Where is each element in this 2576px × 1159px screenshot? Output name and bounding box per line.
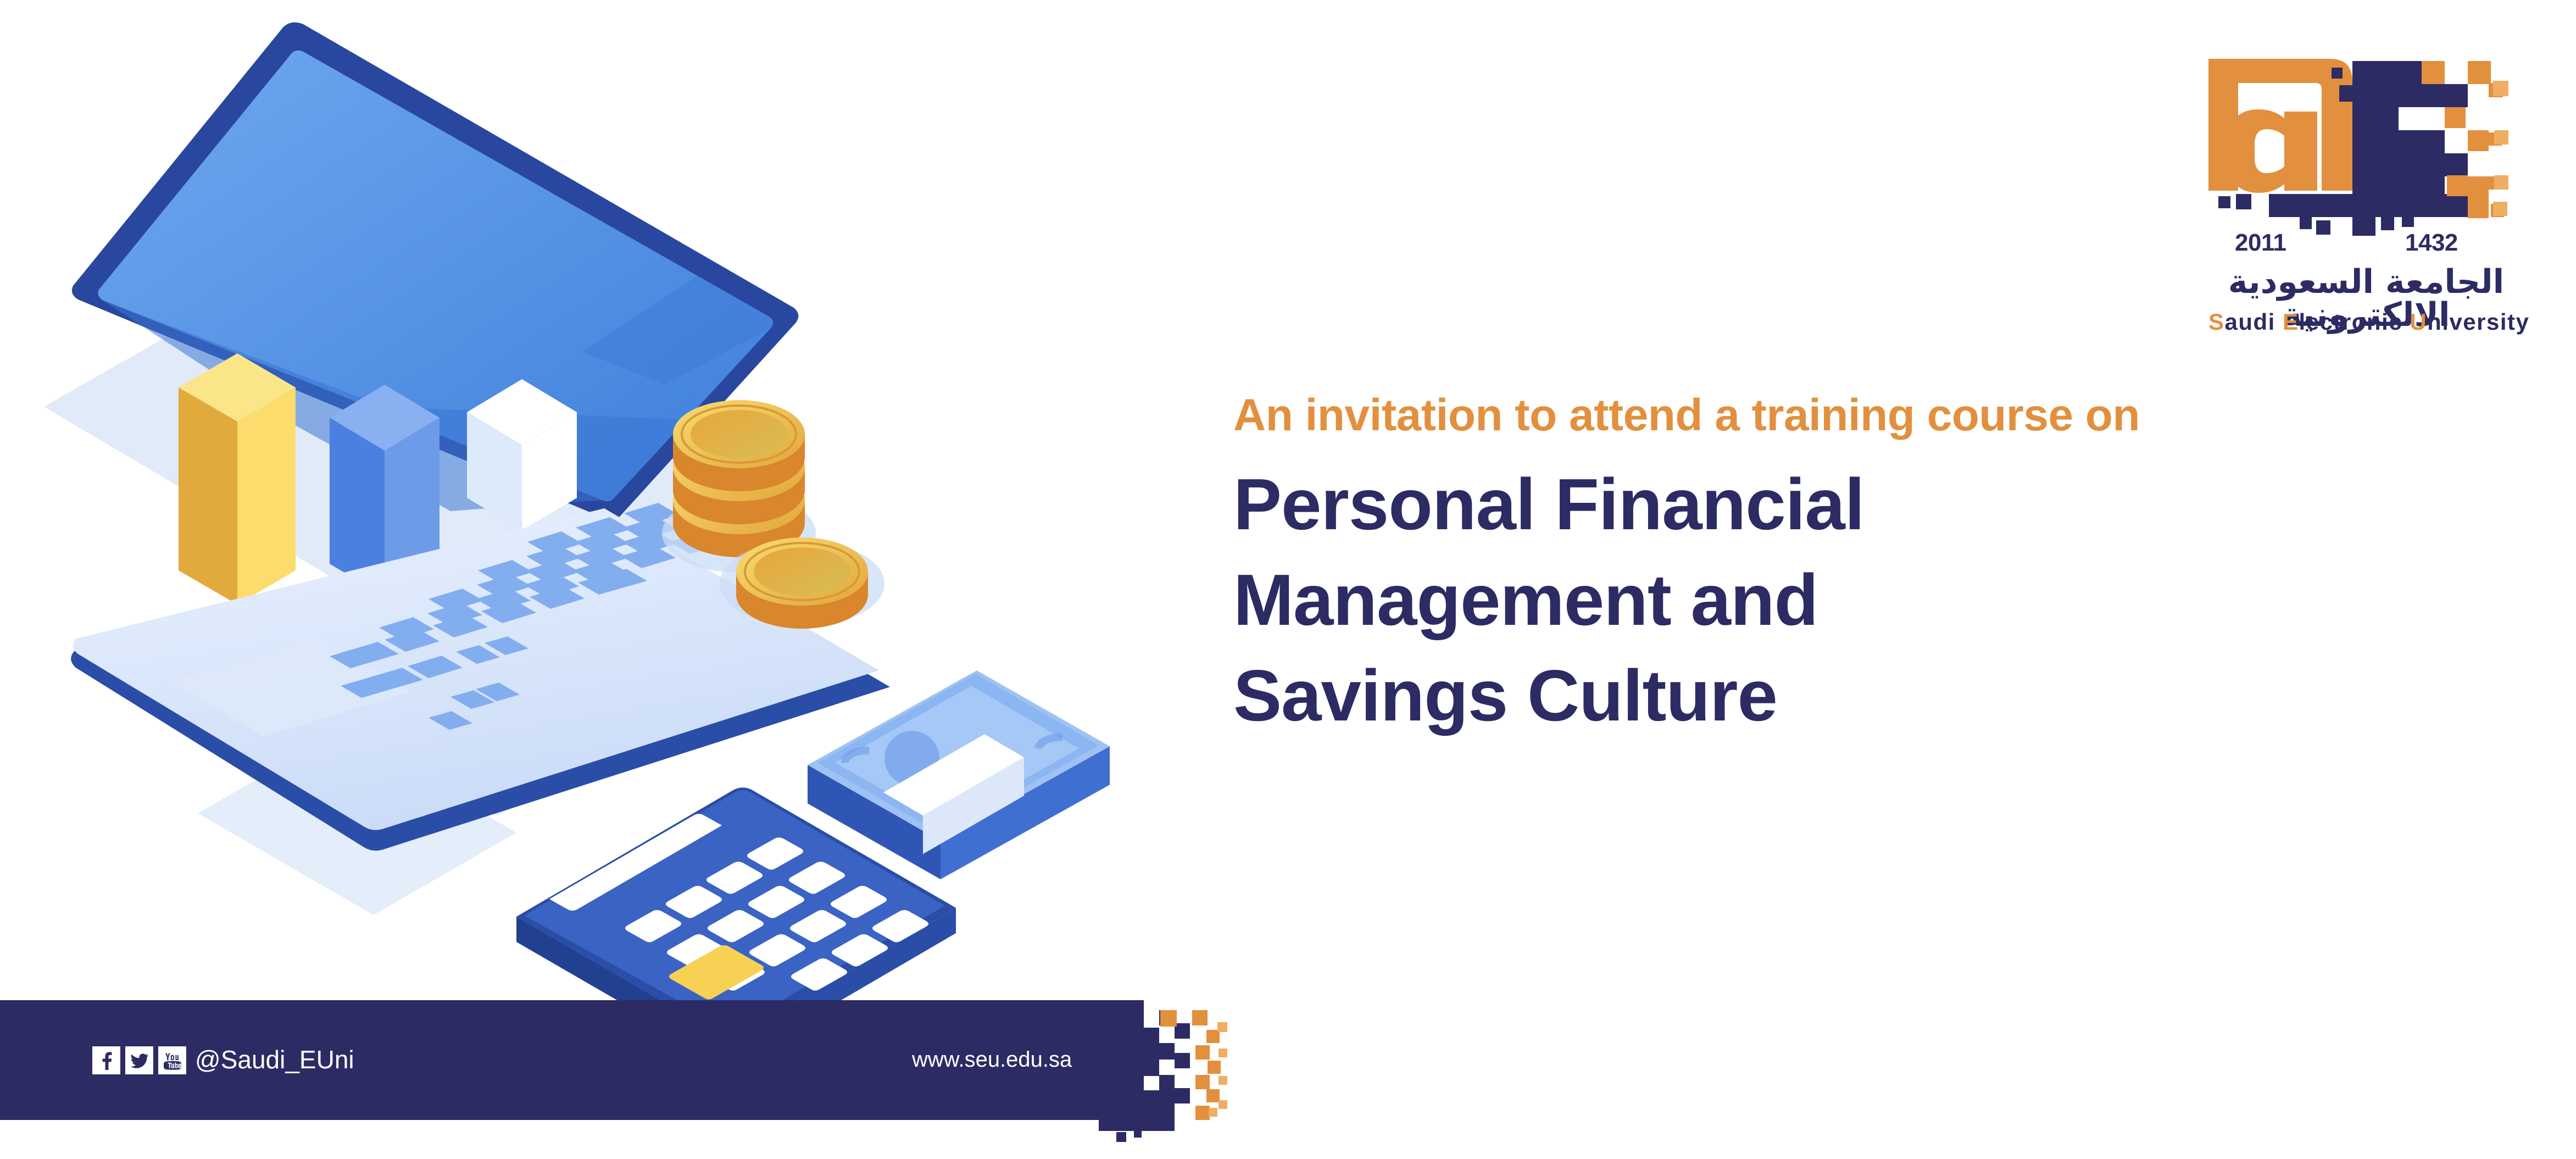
at-sign-glyph [2208, 59, 2352, 193]
chart-bar-yellow [179, 353, 296, 605]
footer-pixel-mosaic [1099, 1000, 1291, 1159]
social-link-youtube[interactable] [158, 1046, 186, 1074]
social-link-facebook[interactable] [92, 1046, 120, 1074]
logo-pixel-fade-light [2493, 81, 2508, 216]
seu-logo-mark [2208, 52, 2538, 234]
youtube-icon [163, 1051, 182, 1071]
social-links [92, 1046, 186, 1074]
headline-line-1: Personal Financial [1233, 457, 2387, 552]
headline-line-2: Management and [1233, 552, 2387, 648]
banner-root: 2011 1432 الجامعة السعودية الالكترونية S… [0, 0, 2576, 1159]
social-link-twitter[interactable] [125, 1046, 153, 1074]
finance-illustration [33, 22, 1126, 1006]
website-url[interactable]: www.seu.edu.sa [912, 1046, 1072, 1074]
logo-year-hijri: 1432 [2405, 231, 2458, 255]
banknote-bundle [808, 670, 1110, 879]
course-copy: An invitation to attend a training cours… [1233, 393, 2387, 744]
logo-latin-name: Saudi Electronic University [2208, 310, 2524, 334]
headline: Personal Financial Management and Saving… [1233, 457, 2387, 744]
headline-line-3: Savings Culture [1233, 648, 2387, 744]
eyebrow-text: An invitation to attend a training cours… [1233, 393, 2387, 438]
facebook-icon [97, 1051, 116, 1070]
footer: @Saudi_EUni www.seu.edu.sa [0, 1000, 1291, 1159]
logo-years: 2011 1432 [2208, 231, 2516, 258]
logo-year-gregorian: 2011 [2235, 231, 2286, 255]
social-handle: @Saudi_EUni [195, 1046, 354, 1074]
seu-logo: 2011 1432 الجامعة السعودية الالكترونية S… [2208, 52, 2538, 327]
twitter-icon [130, 1051, 149, 1071]
